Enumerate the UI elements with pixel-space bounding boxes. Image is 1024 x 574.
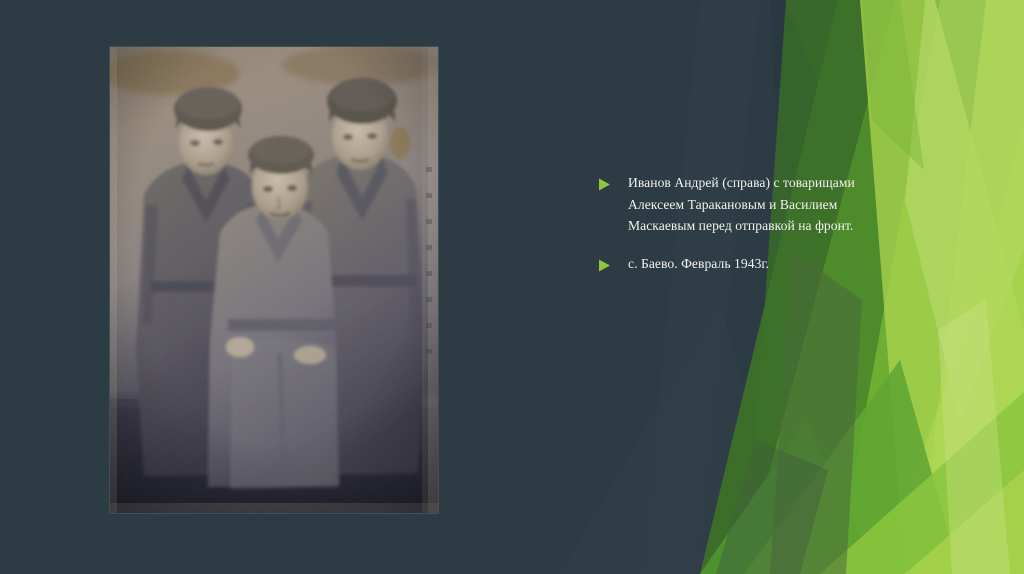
- list-item: с. Баево. Февраль 1943г.: [598, 253, 898, 275]
- triangle-bullet-icon: [598, 253, 628, 272]
- list-item-text: с. Баево. Февраль 1943г.: [628, 253, 898, 275]
- photograph-image: [110, 47, 438, 513]
- triangle-bullet-icon: [598, 172, 628, 191]
- historical-photograph: [110, 47, 438, 513]
- slide-text-body: Иванов Андрей (справа) с товарищами Алек…: [598, 172, 898, 274]
- list-item-text: Иванов Андрей (справа) с товарищами Алек…: [628, 172, 898, 237]
- presentation-slide: Иванов Андрей (справа) с товарищами Алек…: [0, 0, 1024, 574]
- list-item: Иванов Андрей (справа) с товарищами Алек…: [598, 172, 898, 237]
